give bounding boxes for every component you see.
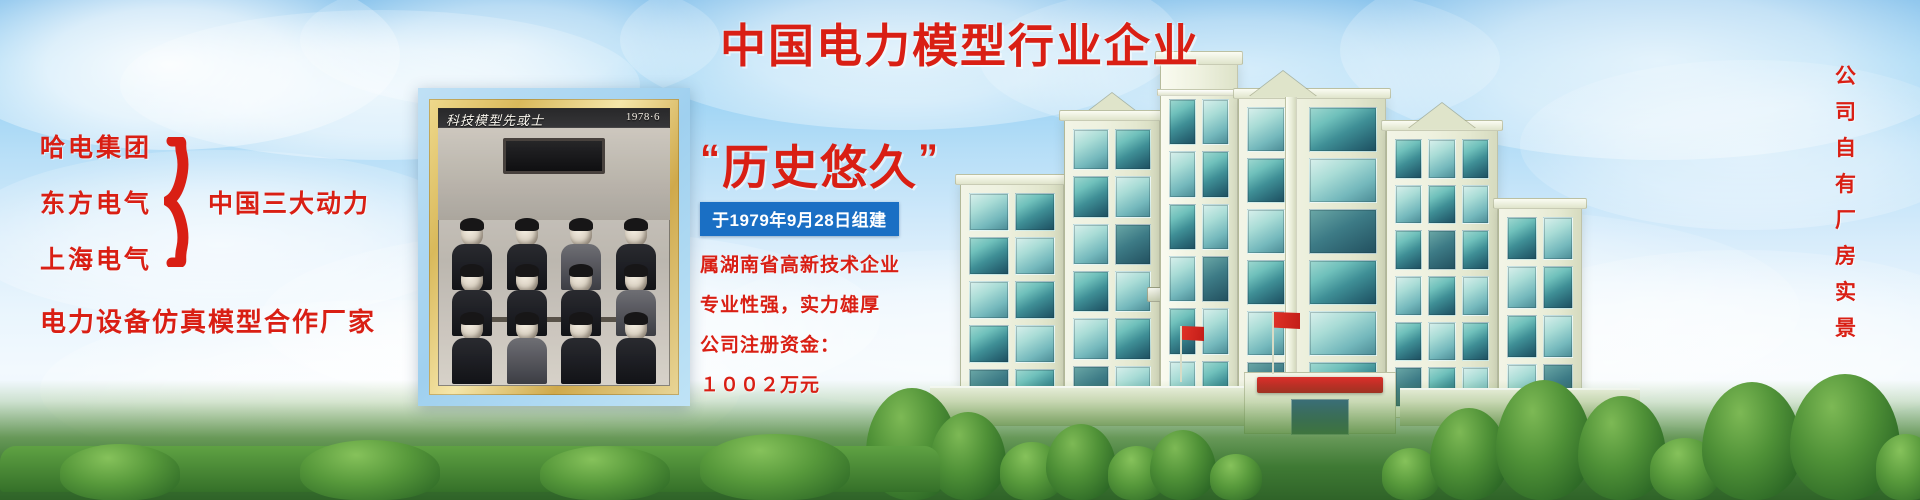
- window: [1395, 185, 1422, 225]
- vertical-char-4: 有: [1835, 174, 1856, 195]
- photo-person-head: [625, 314, 647, 340]
- tree: [930, 412, 1006, 500]
- window: [1428, 139, 1455, 179]
- brand-item-1: 哈电集团: [40, 128, 152, 164]
- curly-brace-icon: [164, 137, 204, 267]
- window: [1202, 256, 1229, 302]
- vertical-char-2: 司: [1835, 102, 1856, 123]
- photo-person-hair: [624, 312, 648, 325]
- roof-gable: [1408, 103, 1476, 129]
- shrub: [60, 444, 180, 500]
- window: [1169, 99, 1196, 145]
- building-stair-tower: [1160, 62, 1238, 418]
- photo-person-hair: [460, 312, 484, 325]
- curtain-wall-panel: [1309, 158, 1377, 203]
- photo-person-body: [561, 338, 601, 384]
- window: [1507, 266, 1537, 309]
- red-flag-icon: [1274, 312, 1300, 329]
- window: [1543, 266, 1573, 309]
- photo-person-hair: [624, 264, 648, 277]
- vertical-char-1: 公: [1835, 66, 1856, 87]
- company-fact-2: 专业性强，实力雄厚: [700, 290, 1000, 317]
- window: [1202, 204, 1229, 250]
- historical-photo-frame: 科技模型先或士 1978·6: [418, 88, 690, 406]
- gold-frame-border: 科技模型先或士 1978·6: [429, 99, 679, 395]
- flag-pole: [1272, 312, 1274, 374]
- window: [1115, 224, 1151, 265]
- photo-person-hair: [460, 218, 484, 231]
- photo-caption-date: 1978·6: [626, 111, 660, 123]
- photo-blackboard: [503, 138, 605, 174]
- promo-banner: 中国电力模型行业企业 哈电集团 东方电气 上海电气 中国三大动力 电力设备仿真模…: [0, 0, 1920, 500]
- window: [1073, 224, 1109, 265]
- photo-person-head: [570, 220, 592, 246]
- brand-item-2: 东方电气: [40, 184, 152, 220]
- window: [1115, 271, 1151, 312]
- history-quote: “历史悠久”: [700, 138, 1000, 192]
- brand-list: 哈电集团 东方电气 上海电气: [40, 128, 152, 276]
- photo-person-hair: [569, 218, 593, 231]
- brace-label: 中国三大动力: [208, 184, 370, 220]
- window: [1428, 185, 1455, 225]
- window: [1428, 230, 1455, 270]
- window: [1015, 325, 1055, 363]
- window: [1507, 217, 1537, 260]
- vertical-char-5: 厂: [1835, 210, 1856, 231]
- middle-text-column: “历史悠久” 于1979年9月28日组建 属湖南省高新技术企业 专业性强，实力雄…: [700, 138, 1000, 410]
- company-fact-1: 属湖南省高新技术企业: [700, 250, 1000, 277]
- company-facts-list: 属湖南省高新技术企业 专业性强，实力雄厚 公司注册资金： １００２万元: [700, 250, 1000, 397]
- window: [1169, 256, 1196, 302]
- photo-person-head: [625, 266, 647, 292]
- tree: [1046, 424, 1116, 500]
- photo-person-hair: [515, 312, 539, 325]
- window: [1395, 276, 1422, 316]
- photo-person-head: [516, 220, 538, 246]
- quote-text: 历史悠久: [722, 141, 918, 194]
- vertical-char-8: 景: [1835, 318, 1856, 339]
- vertical-char-7: 实: [1835, 282, 1856, 303]
- right-vertical-caption: 公 司 自 有 厂 房 实 景: [1835, 66, 1856, 339]
- photo-person-hair: [624, 218, 648, 231]
- photo-person-head: [516, 266, 538, 292]
- window: [1202, 99, 1229, 145]
- red-flag-icon: [1182, 326, 1204, 341]
- photo-person-hair: [569, 264, 593, 277]
- photo-person: [616, 314, 656, 384]
- window: [1462, 139, 1489, 179]
- photo-person-hair: [515, 264, 539, 277]
- window: [1202, 308, 1229, 354]
- photo-person-head: [516, 314, 538, 340]
- photo-person-hair: [460, 264, 484, 277]
- photo-person: [561, 314, 601, 384]
- historical-group-photo: 科技模型先或士 1978·6: [438, 108, 670, 386]
- photo-caption-title: 科技模型先或士: [446, 110, 544, 129]
- curtain-wall-panel: [1309, 107, 1377, 152]
- photo-person-body: [452, 338, 492, 384]
- company-fact-4: １００２万元: [700, 370, 1000, 397]
- window: [1015, 193, 1055, 231]
- window: [1015, 281, 1055, 319]
- shrub: [540, 446, 670, 500]
- vertical-char-6: 房: [1835, 246, 1856, 267]
- company-fact-3: 公司注册资金：: [700, 330, 1000, 357]
- photo-person-hair: [569, 312, 593, 325]
- window: [1543, 217, 1573, 260]
- window: [1073, 176, 1109, 217]
- left-tagline: 电力设备仿真模型合作厂家: [40, 302, 450, 339]
- window-grid: [1161, 63, 1237, 417]
- photo-person-head: [461, 220, 483, 246]
- window: [1247, 158, 1285, 203]
- window: [1462, 322, 1489, 362]
- window: [1115, 318, 1151, 359]
- window-grid: [1239, 97, 1385, 417]
- window: [1115, 176, 1151, 217]
- window: [1395, 322, 1422, 362]
- shrub: [300, 440, 440, 500]
- quote-open-mark: “: [700, 137, 722, 181]
- window: [1115, 129, 1151, 170]
- window: [1395, 139, 1422, 179]
- tree: [1702, 382, 1802, 500]
- photo-person: [452, 314, 492, 384]
- window: [1015, 237, 1055, 275]
- photo-person-head: [570, 314, 592, 340]
- tree: [1496, 380, 1592, 500]
- window: [1395, 230, 1422, 270]
- window: [1462, 230, 1489, 270]
- window: [1202, 151, 1229, 197]
- window: [1169, 151, 1196, 197]
- banner-headline: 中国电力模型行业企业: [0, 10, 1920, 76]
- curtain-wall-panel: [1309, 209, 1377, 254]
- curtain-wall-panel: [1309, 311, 1377, 356]
- brand-item-3: 上海电气: [40, 240, 152, 276]
- photo-person: [507, 314, 547, 384]
- shrub: [1210, 454, 1262, 500]
- shrub: [700, 434, 850, 500]
- brand-group: 哈电集团 东方电气 上海电气 中国三大动力: [40, 128, 450, 276]
- window: [1247, 107, 1285, 152]
- photo-person-body: [616, 338, 656, 384]
- window: [1462, 276, 1489, 316]
- left-text-block: 哈电集团 东方电气 上海电气 中国三大动力 电力设备仿真模型合作厂家: [40, 128, 450, 339]
- window: [1073, 129, 1109, 170]
- photo-person-head: [625, 220, 647, 246]
- photo-person-hair: [515, 218, 539, 231]
- window: [1507, 315, 1537, 358]
- photo-people-row: [438, 314, 670, 384]
- window: [1428, 276, 1455, 316]
- tree: [1150, 430, 1216, 500]
- quote-close-mark: ”: [918, 137, 940, 181]
- window: [1169, 204, 1196, 250]
- founding-date-badge: 于1979年9月28日组建: [700, 202, 899, 236]
- curtain-wall-panel: [1309, 260, 1377, 305]
- vertical-char-3: 自: [1835, 138, 1856, 159]
- window: [1462, 185, 1489, 225]
- window: [1543, 315, 1573, 358]
- photo-person-head: [570, 266, 592, 292]
- window: [1247, 209, 1285, 254]
- photo-person-body: [507, 338, 547, 384]
- window: [1073, 318, 1109, 359]
- photo-person-head: [461, 266, 483, 292]
- window: [1428, 322, 1455, 362]
- photo-person-head: [461, 314, 483, 340]
- window: [1247, 260, 1285, 305]
- window: [1073, 271, 1109, 312]
